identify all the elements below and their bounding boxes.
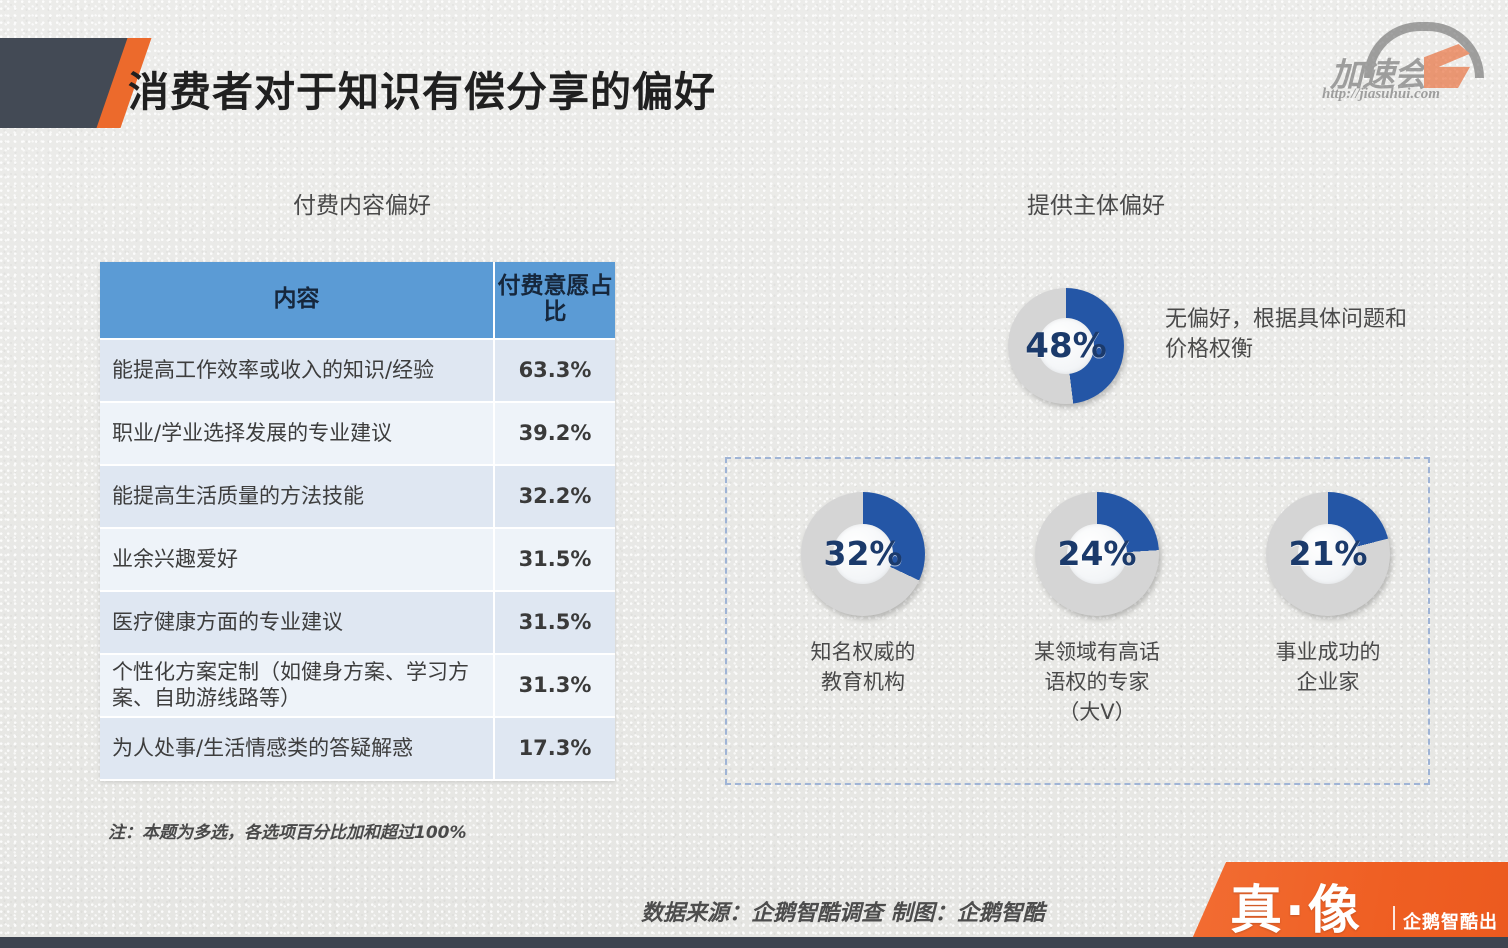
column-header-percent: 付费意愿占比 <box>495 262 615 340</box>
row-label: 业余兴趣爱好 <box>100 529 495 592</box>
row-value: 63.3% <box>495 340 615 403</box>
brand-mark-text: 真·像 <box>1230 868 1363 943</box>
donut-chart-32: 32% 知名权威的 教育机构 <box>748 492 978 698</box>
caption-line: 企业家 <box>1213 668 1443 698</box>
table-row: 职业/学业选择发展的专业建议 39.2% <box>100 403 615 466</box>
donut-value-label: 21% <box>1266 534 1390 573</box>
row-value: 17.3% <box>495 718 615 781</box>
donut-value-label: 48% <box>1008 326 1124 366</box>
watermark-jiasuhui: 加速会 http://jiasuhui.com <box>1316 10 1496 108</box>
donut-caption: 知名权威的 教育机构 <box>748 638 978 698</box>
infographic-slide: 消费者对于知识有偿分享的偏好 加速会 http://jiasuhui.com 付… <box>0 0 1508 948</box>
table-row: 能提高工作效率或收入的知识/经验 63.3% <box>100 340 615 403</box>
donut-ring: 24% <box>1035 492 1159 616</box>
data-source-text: 数据来源：企鹅智酷调查 制图：企鹅智酷 <box>641 895 1045 927</box>
donut-caption-48: 无偏好，根据具体问题和价格权衡 <box>1165 305 1417 366</box>
section-heading-right: 提供主体偏好 <box>1027 186 1165 220</box>
page-title: 消费者对于知识有偿分享的偏好 <box>128 58 716 118</box>
caption-line: 教育机构 <box>748 668 978 698</box>
watermark-url: http://jiasuhui.com <box>1322 86 1440 103</box>
donut-caption: 某领域有高话 语权的专家 （大V） <box>982 638 1212 727</box>
donut-ring: 21% <box>1266 492 1390 616</box>
caption-line: 知名权威的 <box>748 638 978 668</box>
table-row: 为人处事/生活情感类的答疑解惑 17.3% <box>100 718 615 781</box>
donut-caption: 事业成功的 企业家 <box>1213 638 1443 698</box>
table-row: 业余兴趣爱好 31.5% <box>100 529 615 592</box>
row-value: 31.5% <box>495 592 615 655</box>
table-row: 个性化方案定制（如健身方案、学习方案、自助游线路等） 31.3% <box>100 655 615 718</box>
donut-chart-24: 24% 某领域有高话 语权的专家 （大V） <box>982 492 1212 727</box>
table-footnote: 注：本题为多选，各选项百分比加和超过100% <box>108 818 467 843</box>
row-label: 能提高生活质量的方法技能 <box>100 466 495 529</box>
row-label: 个性化方案定制（如健身方案、学习方案、自助游线路等） <box>100 655 495 718</box>
caption-line: 语权的专家 <box>982 668 1212 698</box>
footer-bar <box>0 937 1508 948</box>
donut-chart-48: 48% <box>1008 288 1124 404</box>
paid-content-preference-table: 内容 付费意愿占比 能提高工作效率或收入的知识/经验 63.3% 职业/学业选择… <box>100 262 615 781</box>
row-label: 能提高工作效率或收入的知识/经验 <box>100 340 495 403</box>
brand-logo-zhenxiang: 真·像 企鹅智酷出品 <box>1188 862 1508 948</box>
donut-chart-21: 21% 事业成功的 企业家 <box>1213 492 1443 698</box>
donut-ring: 48% <box>1008 288 1124 404</box>
table-row: 能提高生活质量的方法技能 32.2% <box>100 466 615 529</box>
row-value: 31.3% <box>495 655 615 718</box>
row-value: 31.5% <box>495 529 615 592</box>
section-heading-left: 付费内容偏好 <box>293 186 431 220</box>
column-header-content: 内容 <box>100 262 495 340</box>
table-row: 医疗健康方面的专业建议 31.5% <box>100 592 615 655</box>
table-header-row: 内容 付费意愿占比 <box>100 262 615 340</box>
row-label: 职业/学业选择发展的专业建议 <box>100 403 495 466</box>
table-body: 能提高工作效率或收入的知识/经验 63.3% 职业/学业选择发展的专业建议 39… <box>100 340 615 781</box>
row-value: 39.2% <box>495 403 615 466</box>
donut-ring: 32% <box>801 492 925 616</box>
caption-line: （大V） <box>982 698 1212 728</box>
brand-divider <box>1393 906 1395 930</box>
caption-line: 某领域有高话 <box>982 638 1212 668</box>
donut-value-label: 24% <box>1035 534 1159 573</box>
caption-line: 事业成功的 <box>1213 638 1443 668</box>
donut-value-label: 32% <box>801 534 925 573</box>
row-label: 为人处事/生活情感类的答疑解惑 <box>100 718 495 781</box>
row-value: 32.2% <box>495 466 615 529</box>
row-label: 医疗健康方面的专业建议 <box>100 592 495 655</box>
